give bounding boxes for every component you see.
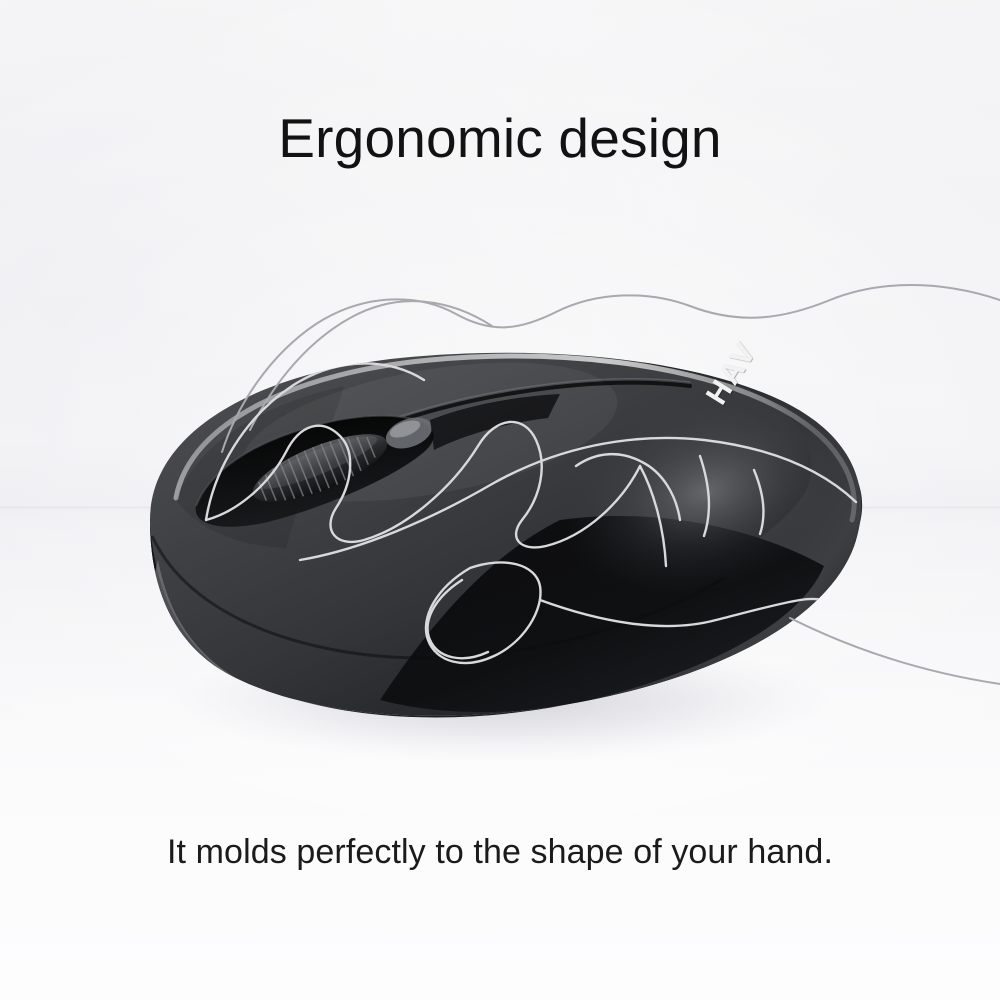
wrist-line-right-bg xyxy=(790,618,1000,684)
page-caption: It molds perfectly to the shape of your … xyxy=(0,832,1000,873)
page-title: Ergonomic design xyxy=(0,108,1000,169)
product-feature-slide: HAV Ergonomic design It molds perfectly … xyxy=(0,0,1000,1000)
